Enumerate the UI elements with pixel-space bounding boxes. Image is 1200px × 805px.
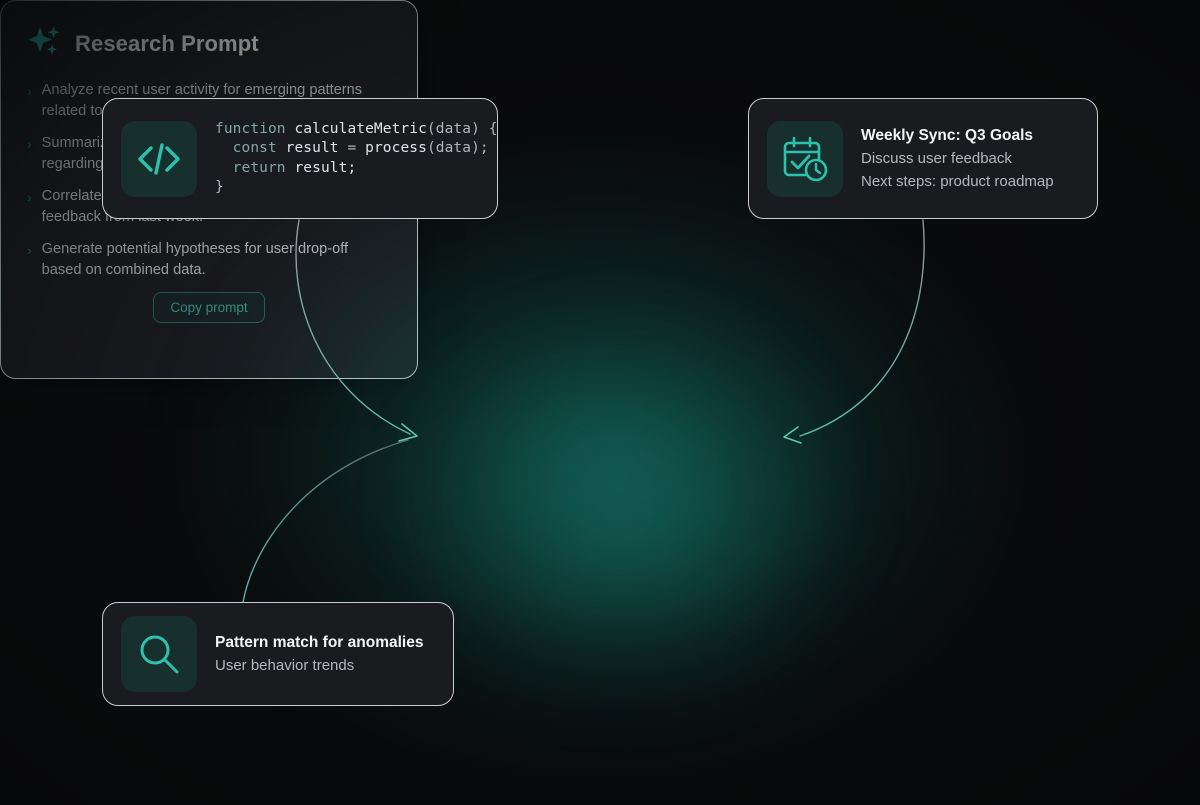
arrowhead-meeting-to-prompt (784, 427, 801, 443)
code-token: (data); (427, 140, 489, 156)
code-token: return (215, 160, 294, 176)
code-token: calculateMetric (294, 121, 426, 137)
meeting-card-text: Weekly Sync: Q3 Goals Discuss user feedb… (861, 125, 1054, 193)
chevron-right-icon: › (27, 241, 32, 280)
diagram-canvas: function calculateMetric(data) { const r… (0, 0, 1200, 805)
copy-button-row: Copy prompt (27, 292, 391, 323)
meeting-note-card[interactable]: Weekly Sync: Q3 Goals Discuss user feedb… (748, 98, 1098, 219)
code-brackets-icon (121, 121, 197, 197)
meeting-card-title: Weekly Sync: Q3 Goals (861, 125, 1054, 147)
code-token: function (215, 121, 294, 137)
pattern-match-card-subtitle: User behavior trends (215, 654, 423, 677)
pattern-match-card[interactable]: Pattern match for anomalies User behavio… (102, 602, 454, 706)
page-title: Research Prompt (75, 31, 259, 57)
research-prompt-header: Research Prompt (27, 23, 391, 64)
sparkles-icon (27, 23, 63, 64)
magnifier-icon (121, 616, 197, 692)
code-line: return result; (215, 159, 498, 179)
code-text: function calculateMetric(data) { const r… (215, 120, 498, 198)
code-line: } (215, 178, 498, 198)
calendar-check-clock-icon (767, 121, 843, 197)
prompt-bullet-text: Generate potential hypotheses for user d… (42, 239, 391, 280)
pattern-match-card-text: Pattern match for anomalies User behavio… (215, 632, 423, 677)
background-glow-core (420, 330, 840, 690)
code-token: const (215, 140, 286, 156)
arrowhead-code-to-prompt (399, 424, 417, 441)
connector-search-to-prompt (243, 440, 408, 602)
code-token: result (286, 140, 348, 156)
code-line: function calculateMetric(data) { (215, 120, 498, 140)
meeting-card-line-2: Next steps: product roadmap (861, 170, 1054, 193)
connector-meeting-to-prompt (800, 220, 924, 436)
chevron-right-icon: › (27, 188, 32, 227)
copy-prompt-button[interactable]: Copy prompt (153, 292, 264, 323)
code-token: result; (294, 160, 356, 176)
prompt-bullet-item: ›Generate potential hypotheses for user … (27, 239, 391, 280)
code-token: (data) { (427, 121, 498, 137)
chevron-right-icon: › (27, 135, 32, 174)
pattern-match-card-title: Pattern match for anomalies (215, 632, 423, 654)
meeting-card-line-1: Discuss user feedback (861, 147, 1054, 170)
code-snippet-card[interactable]: function calculateMetric(data) { const r… (102, 98, 498, 219)
code-token: = (347, 140, 365, 156)
code-token: process (365, 140, 427, 156)
code-line: const result = process(data); (215, 139, 498, 159)
code-token: } (215, 179, 224, 195)
chevron-right-icon: › (27, 82, 32, 121)
